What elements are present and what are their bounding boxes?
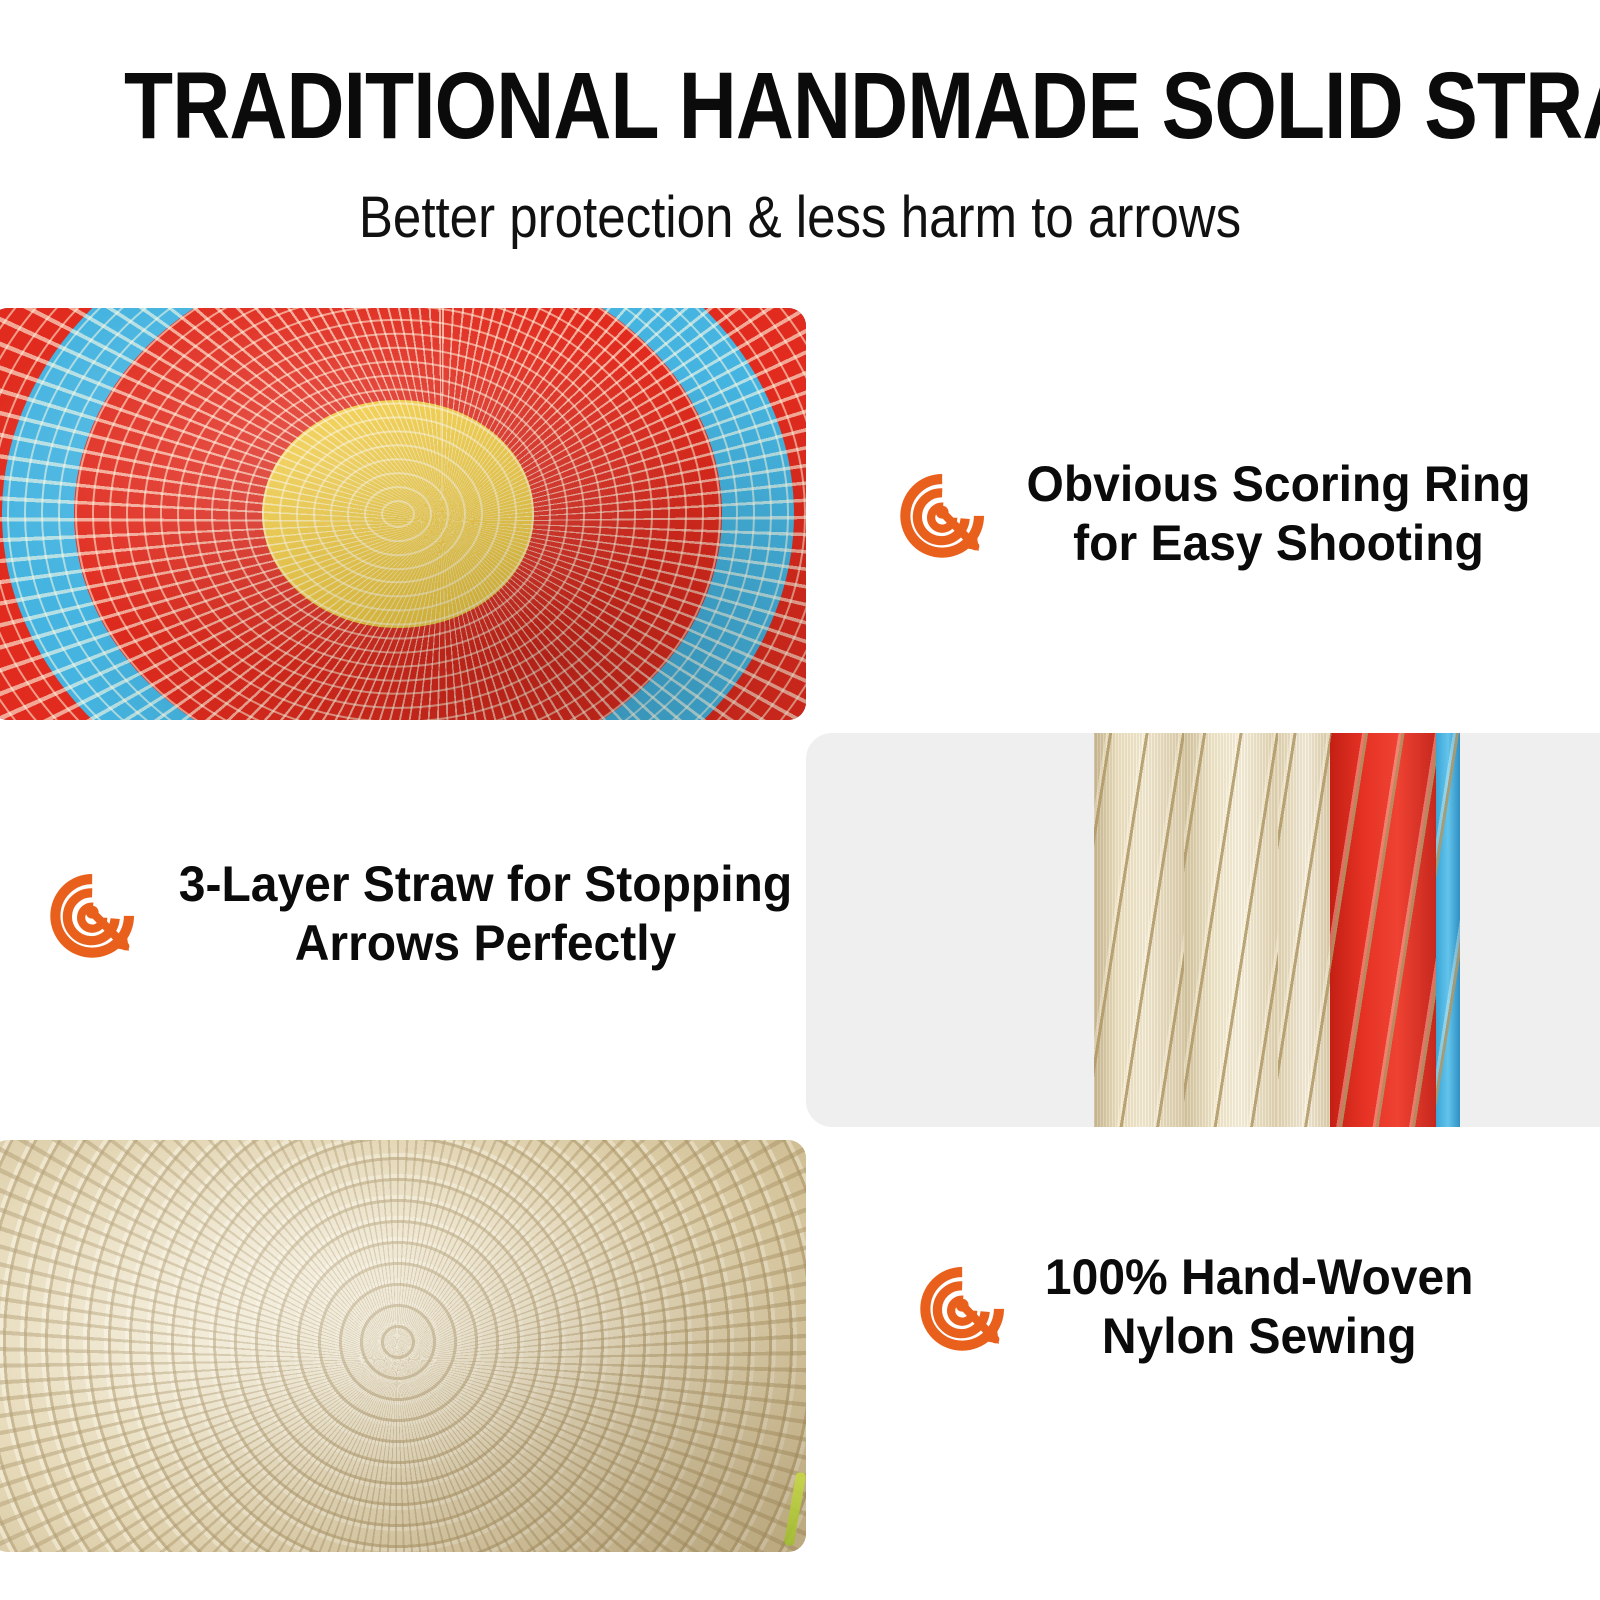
target-arrow-icon [918,1261,1010,1353]
straw-rope-natural-left [1094,733,1186,1127]
product-feature-infographic: TRADITIONAL HANDMADE SOLID STRAW Better … [0,0,1600,1600]
photo-archery-target-face [0,308,806,720]
straw-rope-natural-middle [1184,733,1280,1127]
feature-hand-woven-nylon: 100% Hand-Woven Nylon Sewing [918,1248,1482,1366]
photo-straw-spiral-back [0,1140,806,1552]
straw-stitch-texture [1094,733,1186,1127]
straw-rope-natural-right [1278,733,1334,1127]
straw-stitch-texture [1330,733,1442,1127]
straw-shading-overlay [0,1140,806,1552]
feature-three-layer-straw: 3-Layer Straw for Stopping Arrows Perfec… [48,855,805,973]
straw-rope-red [1330,733,1442,1127]
page-subtitle: Better protection & less harm to arrows [96,186,1504,250]
straw-stitch-texture [1436,733,1460,1127]
straw-stitch-texture [1278,733,1334,1127]
straw-stitch-texture [1184,733,1280,1127]
page-title: TRADITIONAL HANDMADE SOLID STRAW [124,58,1476,155]
straw-rope-blue [1436,733,1460,1127]
feature-label: 3-Layer Straw for Stopping Arrows Perfec… [179,855,792,973]
target-rings [0,308,806,720]
feature-label: 100% Hand-Woven Nylon Sewing [1045,1248,1474,1366]
photo-straw-rope-edge [806,733,1600,1127]
target-arrow-icon [898,468,990,560]
target-ring-gold-center [262,400,534,628]
feature-label: Obvious Scoring Ring for Easy Shooting [1027,455,1531,573]
target-arrow-icon [48,868,140,960]
feature-obvious-scoring-ring: Obvious Scoring Ring for Easy Shooting [898,455,1541,573]
